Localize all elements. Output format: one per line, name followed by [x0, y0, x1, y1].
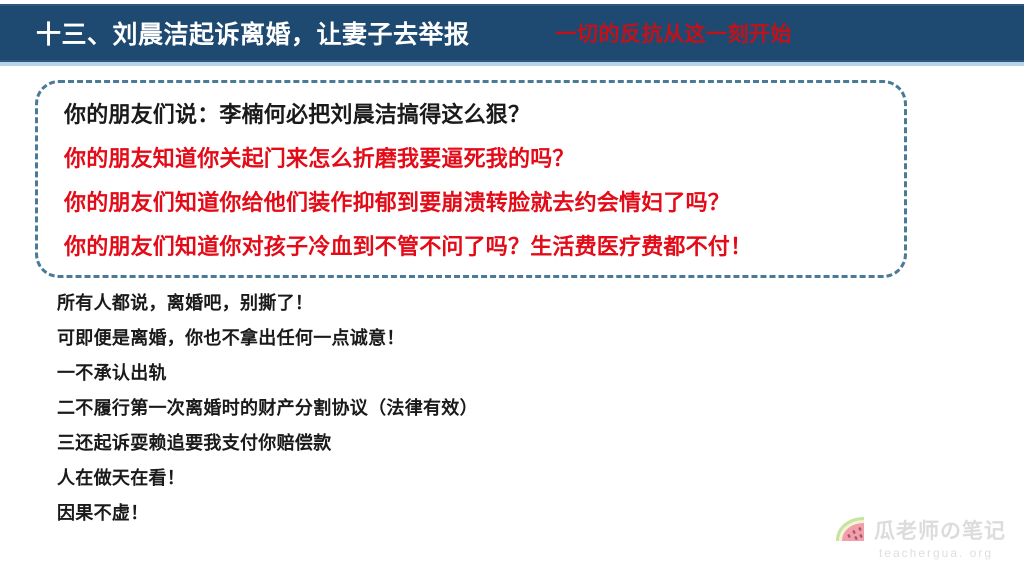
callout-line: 你的朋友知道你关起门来怎么折磨我要逼死我的吗？ [64, 137, 904, 181]
body-line: 一不承认出轨 [57, 356, 887, 391]
header-band: 十三、刘晨洁起诉离婚，让妻子去举报 一切的反抗从这一刻开始 [0, 4, 1024, 62]
watermark-row: 瓜老师の笔记 [833, 512, 1013, 548]
watermark: 瓜老师の笔记 teachergua. org [833, 512, 1013, 570]
watermelon-slice-icon [833, 514, 871, 546]
header-subtitle: 一切的反抗从这一刻开始 [556, 18, 793, 48]
callout-line: 你的朋友们知道你对孩子冷血到不管不问了吗？生活费医疗费都不付！ [64, 225, 904, 269]
body-line: 人在做天在看！ [57, 461, 887, 496]
body-text-block: 所有人都说，离婚吧，别撕了！ 可即便是离婚，你也不拿出任何一点诚意！ 一不承认出… [57, 286, 887, 531]
body-line: 二不履行第一次离婚时的财产分割协议（法律有效） [57, 391, 887, 426]
watermark-brand: 瓜老师の笔记 [874, 515, 1006, 545]
watermark-url: teachergua. org [833, 546, 1013, 560]
body-line: 可即便是离婚，你也不拿出任何一点诚意！ [57, 321, 887, 356]
header-content: 十三、刘晨洁起诉离婚，让妻子去举报 一切的反抗从这一刻开始 [0, 6, 1024, 60]
callout-line: 你的朋友们说：李楠何必把刘晨洁搞得这么狠？ [64, 93, 904, 137]
body-line: 三还起诉耍赖追要我支付你赔偿款 [57, 426, 887, 461]
header-underline [0, 62, 1024, 66]
page-title: 十三、刘晨洁起诉离婚，让妻子去举报 [36, 15, 470, 51]
body-line: 所有人都说，离婚吧，别撕了！ [57, 286, 887, 321]
body-line: 因果不虚！ [57, 496, 887, 531]
dashed-callout-box: 你的朋友们说：李楠何必把刘晨洁搞得这么狠？ 你的朋友知道你关起门来怎么折磨我要逼… [35, 80, 907, 278]
slide-canvas: 十三、刘晨洁起诉离婚，让妻子去举报 一切的反抗从这一刻开始 你的朋友们说：李楠何… [0, 0, 1024, 576]
callout-line: 你的朋友们知道你给他们装作抑郁到要崩溃转脸就去约会情妇了吗？ [64, 181, 904, 225]
